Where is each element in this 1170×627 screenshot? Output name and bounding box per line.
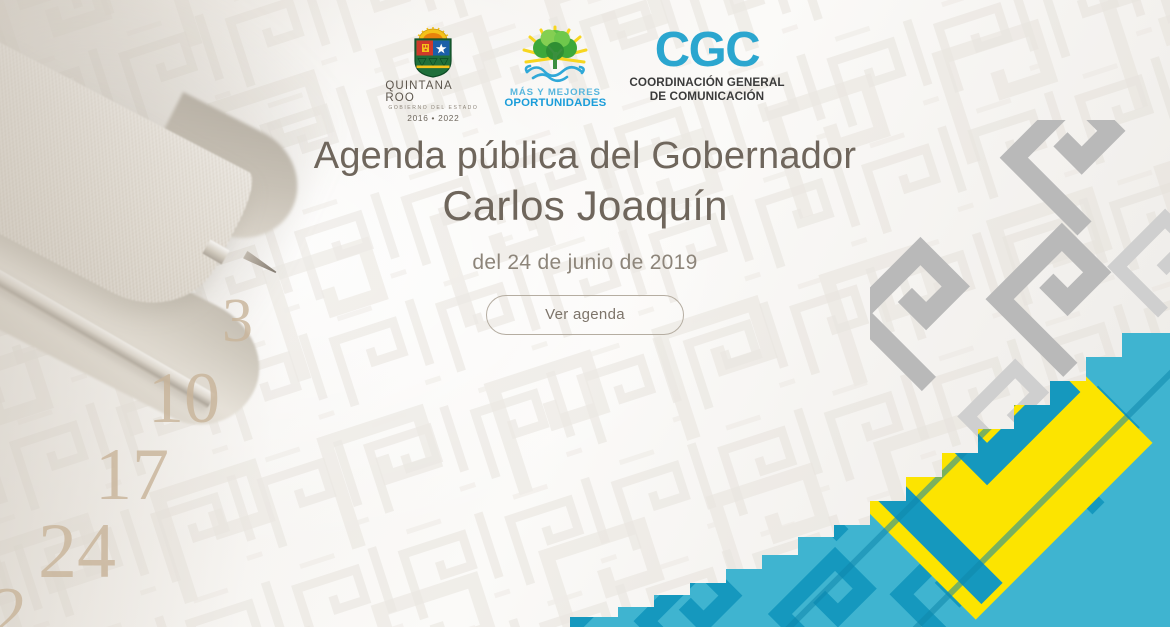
page-subtitle: Carlos Joaquín	[0, 181, 1170, 231]
oportunidades-logo: MÁS Y MEJORES OPORTUNIDADES	[505, 24, 605, 109]
oportunidades-line2: OPORTUNIDADES	[504, 97, 606, 109]
logo-bar: QUINTANA ROO GOBIERNO DEL ESTADO 2016 • …	[0, 24, 1170, 123]
quintana-roo-years: 2016 • 2022	[407, 113, 459, 123]
agenda-date: del 24 de junio de 2019	[0, 251, 1170, 275]
page-title: Agenda pública del Gobernador	[0, 134, 1170, 179]
tree-and-water-logo-icon	[519, 24, 591, 86]
calendar-number: 17	[95, 438, 169, 512]
ver-agenda-button[interactable]: Ver agenda	[486, 295, 684, 335]
hero-banner: 3 10 17 24 2	[0, 0, 1170, 627]
cgc-line2: DE COMUNICACIÓN	[650, 90, 764, 103]
quintana-roo-subtitle: GOBIERNO DEL ESTADO	[388, 105, 478, 111]
hero-content: Agenda pública del Gobernador Carlos Joa…	[0, 134, 1170, 335]
cgc-logo: CGC COORDINACIÓN GENERAL DE COMUNICACIÓN	[629, 24, 784, 103]
calendar-number: 24	[38, 512, 116, 590]
quintana-roo-name: QUINTANA ROO	[385, 80, 481, 104]
cgc-mark: CGC	[655, 28, 759, 73]
quintana-roo-coat-of-arms-icon	[405, 24, 461, 78]
greca-blue-yellow-decoration	[510, 297, 1170, 627]
calendar-number: 10	[148, 362, 220, 434]
cgc-line1: COORDINACIÓN GENERAL	[629, 76, 784, 89]
calendar-number: 2	[0, 578, 27, 627]
quintana-roo-logo: QUINTANA ROO GOBIERNO DEL ESTADO 2016 • …	[385, 24, 481, 123]
